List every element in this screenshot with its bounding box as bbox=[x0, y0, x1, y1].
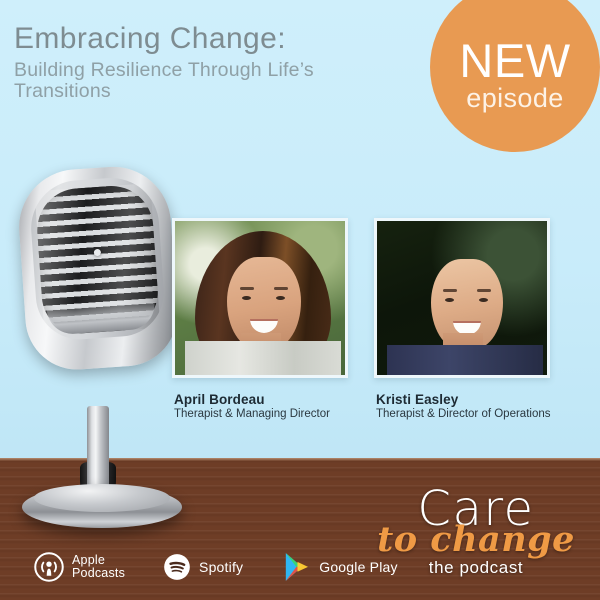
google-play-icon bbox=[281, 551, 311, 583]
eye-left bbox=[445, 298, 454, 302]
platform-label-line2: Podcasts bbox=[72, 567, 125, 581]
badge-new-label: NEW bbox=[459, 38, 570, 83]
platform-spotify[interactable]: Spotify bbox=[163, 553, 243, 581]
vintage-microphone-icon bbox=[14, 168, 189, 528]
eye-left bbox=[242, 296, 251, 300]
badge-episode-label: episode bbox=[466, 84, 563, 112]
photo-background bbox=[377, 221, 547, 375]
platform-label-google-play: Google Play bbox=[319, 560, 397, 575]
speaker-photo-kristi bbox=[374, 218, 550, 378]
microphone-base-top bbox=[34, 484, 170, 512]
speaker-role: Therapist & Director of Operations bbox=[376, 408, 566, 421]
podcast-promo-graphic: Embracing Change: Building Resilience Th… bbox=[0, 0, 600, 600]
brow-left bbox=[240, 287, 254, 290]
brow-right bbox=[477, 289, 491, 292]
platform-badges: Apple Podcasts Spotify Google Play bbox=[34, 551, 398, 583]
eye-right bbox=[276, 296, 285, 300]
platform-google-play[interactable]: Google Play bbox=[281, 551, 397, 583]
brand-logo: Care to change the podcast bbox=[376, 487, 576, 583]
clothing-shape bbox=[185, 341, 341, 375]
speaker-photo-april bbox=[172, 218, 348, 378]
speaker-role: Therapist & Managing Director bbox=[174, 408, 364, 421]
episode-subtitle: Building Resilience Through Life’s Trans… bbox=[14, 60, 414, 102]
brow-right bbox=[274, 287, 288, 290]
eye-right bbox=[479, 298, 488, 302]
apple-podcasts-icon bbox=[34, 552, 64, 582]
spotify-icon bbox=[163, 553, 191, 581]
speaker-name: April Bordeau bbox=[174, 392, 364, 407]
platform-label-line1: Apple bbox=[72, 554, 125, 568]
episode-title: Embracing Change: bbox=[14, 22, 414, 56]
platform-apple-podcasts[interactable]: Apple Podcasts bbox=[34, 552, 125, 582]
logo-word-tochange: to change bbox=[376, 523, 576, 557]
logo-word-thepodcast: the podcast bbox=[376, 558, 576, 577]
speaker-name: Kristi Easley bbox=[376, 392, 566, 407]
speaker-caption-kristi: Kristi Easley Therapist & Director of Op… bbox=[376, 392, 566, 421]
headline-block: Embracing Change: Building Resilience Th… bbox=[14, 22, 414, 102]
brow-left bbox=[443, 289, 457, 292]
smile bbox=[250, 319, 278, 333]
clothing-shape bbox=[387, 345, 543, 375]
microphone-stem bbox=[87, 406, 109, 496]
platform-label-spotify: Spotify bbox=[199, 560, 243, 575]
microphone-inner-shell bbox=[28, 175, 167, 343]
microphone-head bbox=[15, 163, 181, 373]
speaker-caption-april: April Bordeau Therapist & Managing Direc… bbox=[174, 392, 364, 421]
photo-background bbox=[175, 221, 345, 375]
